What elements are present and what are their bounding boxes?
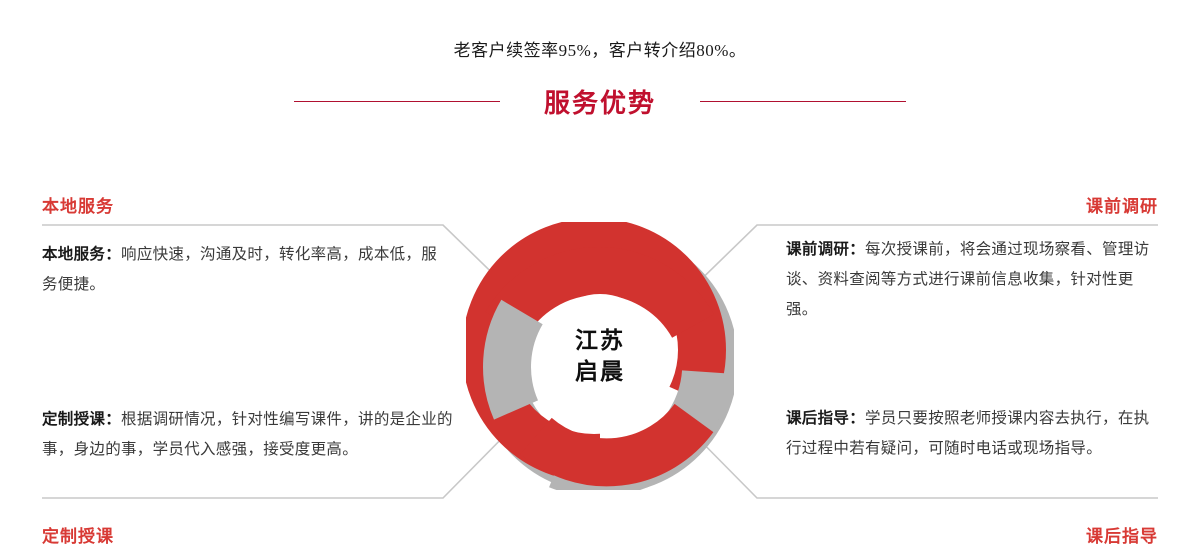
title-rule-left <box>294 101 500 102</box>
paragraph-local-service-label: 本地服务： <box>42 246 121 263</box>
logo-text: 江苏 启晨 <box>466 222 734 490</box>
heading-post-guidance: 课后指导 <box>1086 522 1158 547</box>
logo-text-line1: 江苏 <box>575 325 625 356</box>
tagline-text: 老客户续签率95%，客户转介绍80%。 <box>0 36 1200 61</box>
logo-text-line2: 启晨 <box>575 356 625 387</box>
paragraph-post-guidance-label: 课后指导： <box>786 410 865 427</box>
paragraph-pre-survey-label: 课前调研： <box>786 241 865 258</box>
paragraph-post-guidance: 课后指导：学员只要按照老师授课内容去执行，在执行过程中若有疑问，可随时电话或现场… <box>786 404 1158 464</box>
paragraph-local-service: 本地服务：响应快速，沟通及时，转化率高，成本低，服务便捷。 <box>42 240 442 300</box>
paragraph-pre-survey: 课前调研：每次授课前，将会通过现场察看、管理访谈、资料查阅等方式进行课前信息收集… <box>786 235 1158 325</box>
paragraph-custom-teaching: 定制授课：根据调研情况，针对性编写课件，讲的是企业的事，身边的事，学员代入感强，… <box>42 405 454 465</box>
heading-pre-survey: 课前调研 <box>1086 192 1158 217</box>
heading-local-service: 本地服务 <box>42 192 114 217</box>
page-title: 服务优势 <box>544 83 656 120</box>
paragraph-custom-teaching-label: 定制授课： <box>42 411 121 428</box>
section-title-row: 服务优势 <box>270 82 930 120</box>
heading-custom-teaching: 定制授课 <box>42 522 114 547</box>
company-logo: 江苏 启晨 <box>466 222 734 490</box>
title-rule-right <box>700 101 906 102</box>
